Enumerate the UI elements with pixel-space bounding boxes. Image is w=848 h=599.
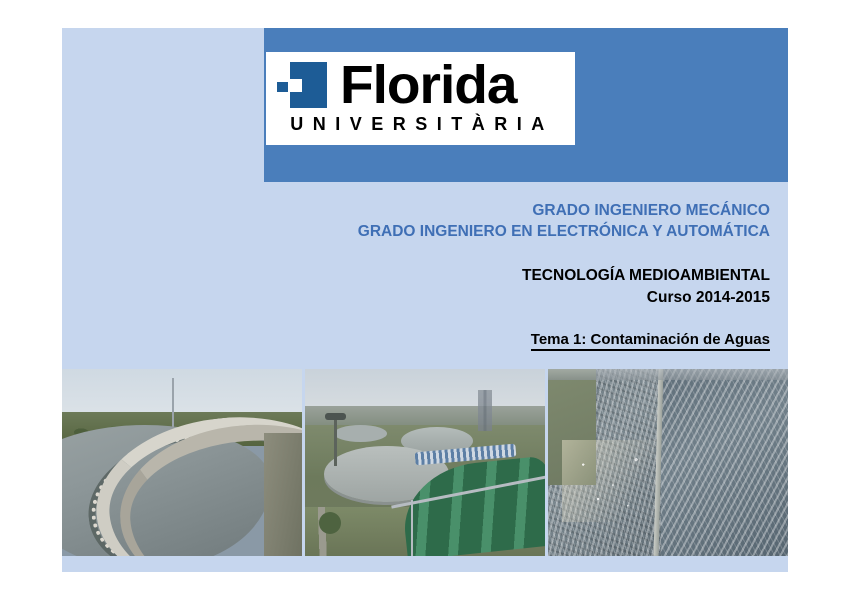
degree-headings: GRADO INGENIERO MECÁNICO GRADO INGENIERO… (62, 200, 788, 242)
foam-plume (562, 440, 668, 522)
settling-tank-far (334, 425, 387, 442)
photo-aerated-turbulent-water (548, 369, 788, 556)
channel-edge (548, 369, 788, 380)
railing-post (411, 500, 413, 556)
photo-wastewater-treatment-plant-aerial (305, 369, 545, 556)
degree-line-2: GRADO INGENIERO EN ELECTRÓNICA Y AUTOMÁT… (62, 221, 770, 242)
course-headings: TECNOLOGÍA MEDIOAMBIENTAL Curso 2014-201… (62, 265, 788, 309)
embankment-region (264, 433, 302, 556)
logo-subtitle: UNIVERSITÀRIA (278, 114, 566, 135)
photo-circular-clarifier-tank (62, 369, 302, 556)
tree-object (319, 512, 341, 534)
logo-main-block (302, 62, 327, 108)
course-year: Curso 2014-2015 (62, 287, 770, 309)
florida-universitaria-logo: Florida UNIVERSITÀRIA (266, 52, 575, 145)
aerated-channel (661, 369, 788, 556)
degree-line-1: GRADO INGENIERO MECÁNICO (62, 200, 770, 221)
photo-strip (62, 369, 788, 556)
floodlight-mast (334, 418, 337, 467)
logo-row: Florida (266, 55, 575, 115)
logo-dot-square (277, 82, 288, 92)
power-pylon (478, 390, 492, 431)
florida-logo-mark-icon (276, 62, 334, 108)
course-subject: TECNOLOGÍA MEDIOAMBIENTAL (62, 265, 770, 287)
logo-wordmark: Florida (340, 58, 516, 112)
topic-title: Tema 1: Contaminación de Aguas (531, 331, 770, 351)
topic-heading: Tema 1: Contaminación de Aguas (62, 331, 788, 351)
